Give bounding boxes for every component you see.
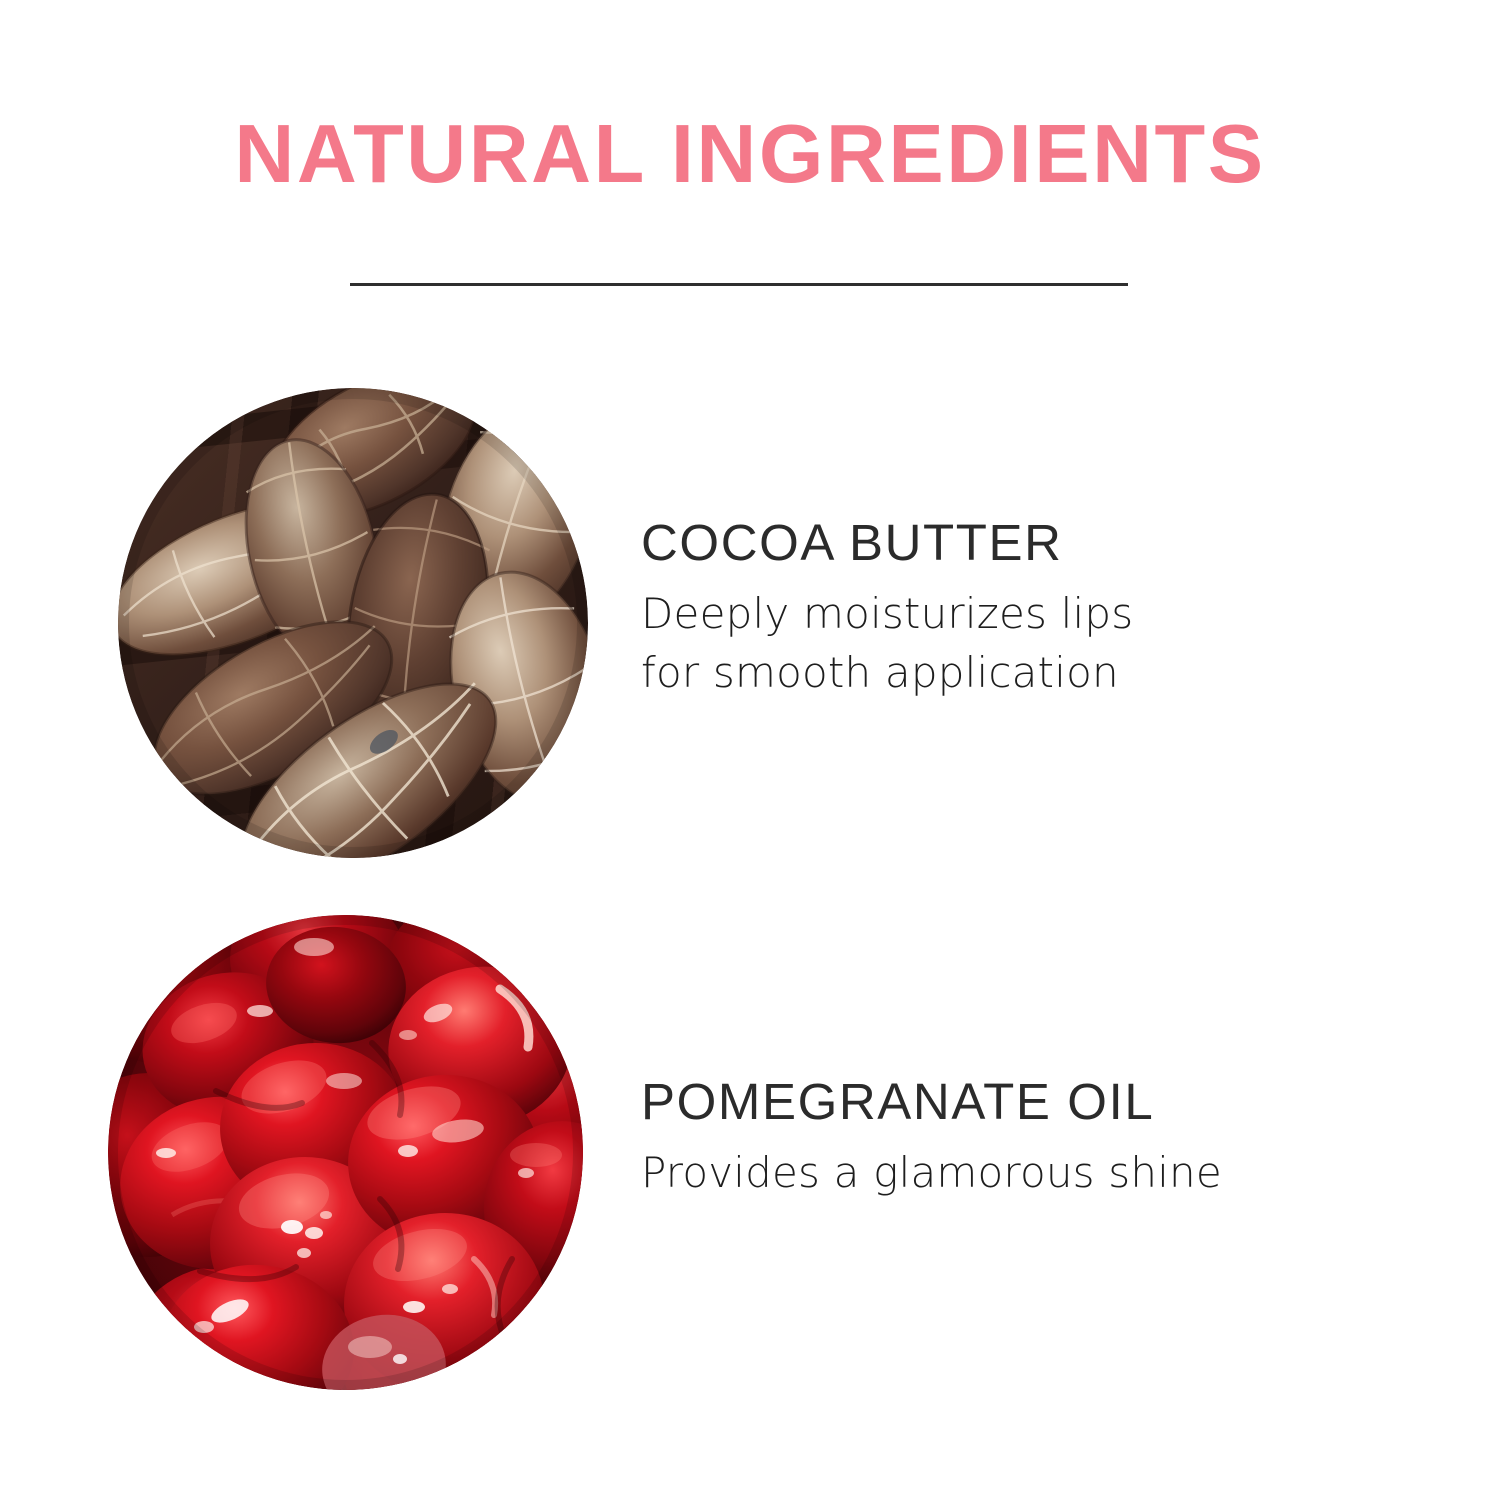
page-title: NATURAL INGREDIENTS: [0, 112, 1500, 195]
pomegranate-seeds-photo: [108, 915, 583, 1390]
description-line: for smooth application: [641, 643, 1341, 703]
infographic-page: NATURAL INGREDIENTS: [0, 0, 1500, 1500]
ingredient-name-pomegranate-oil: POMEGRANATE OIL: [641, 1075, 1421, 1129]
pomegranate-seeds-illustration: [108, 915, 583, 1390]
cocoa-beans-photo: [118, 388, 588, 858]
cocoa-beans-illustration: [118, 388, 588, 858]
description-line: Deeply moisturizes lips: [641, 584, 1341, 644]
ingredient-description-cocoa-butter: Deeply moisturizes lips for smooth appli…: [641, 584, 1341, 703]
ingredient-name-cocoa-butter: COCOA BUTTER: [641, 516, 1341, 570]
pomegranate-oil-copy: POMEGRANATE OIL Provides a glamorous shi…: [641, 1075, 1421, 1202]
cocoa-butter-copy: COCOA BUTTER Deeply moisturizes lips for…: [641, 516, 1341, 703]
title-divider: [350, 283, 1128, 286]
ingredient-description-pomegranate-oil: Provides a glamorous shine: [641, 1143, 1421, 1203]
description-line: Provides a glamorous shine: [641, 1143, 1421, 1203]
